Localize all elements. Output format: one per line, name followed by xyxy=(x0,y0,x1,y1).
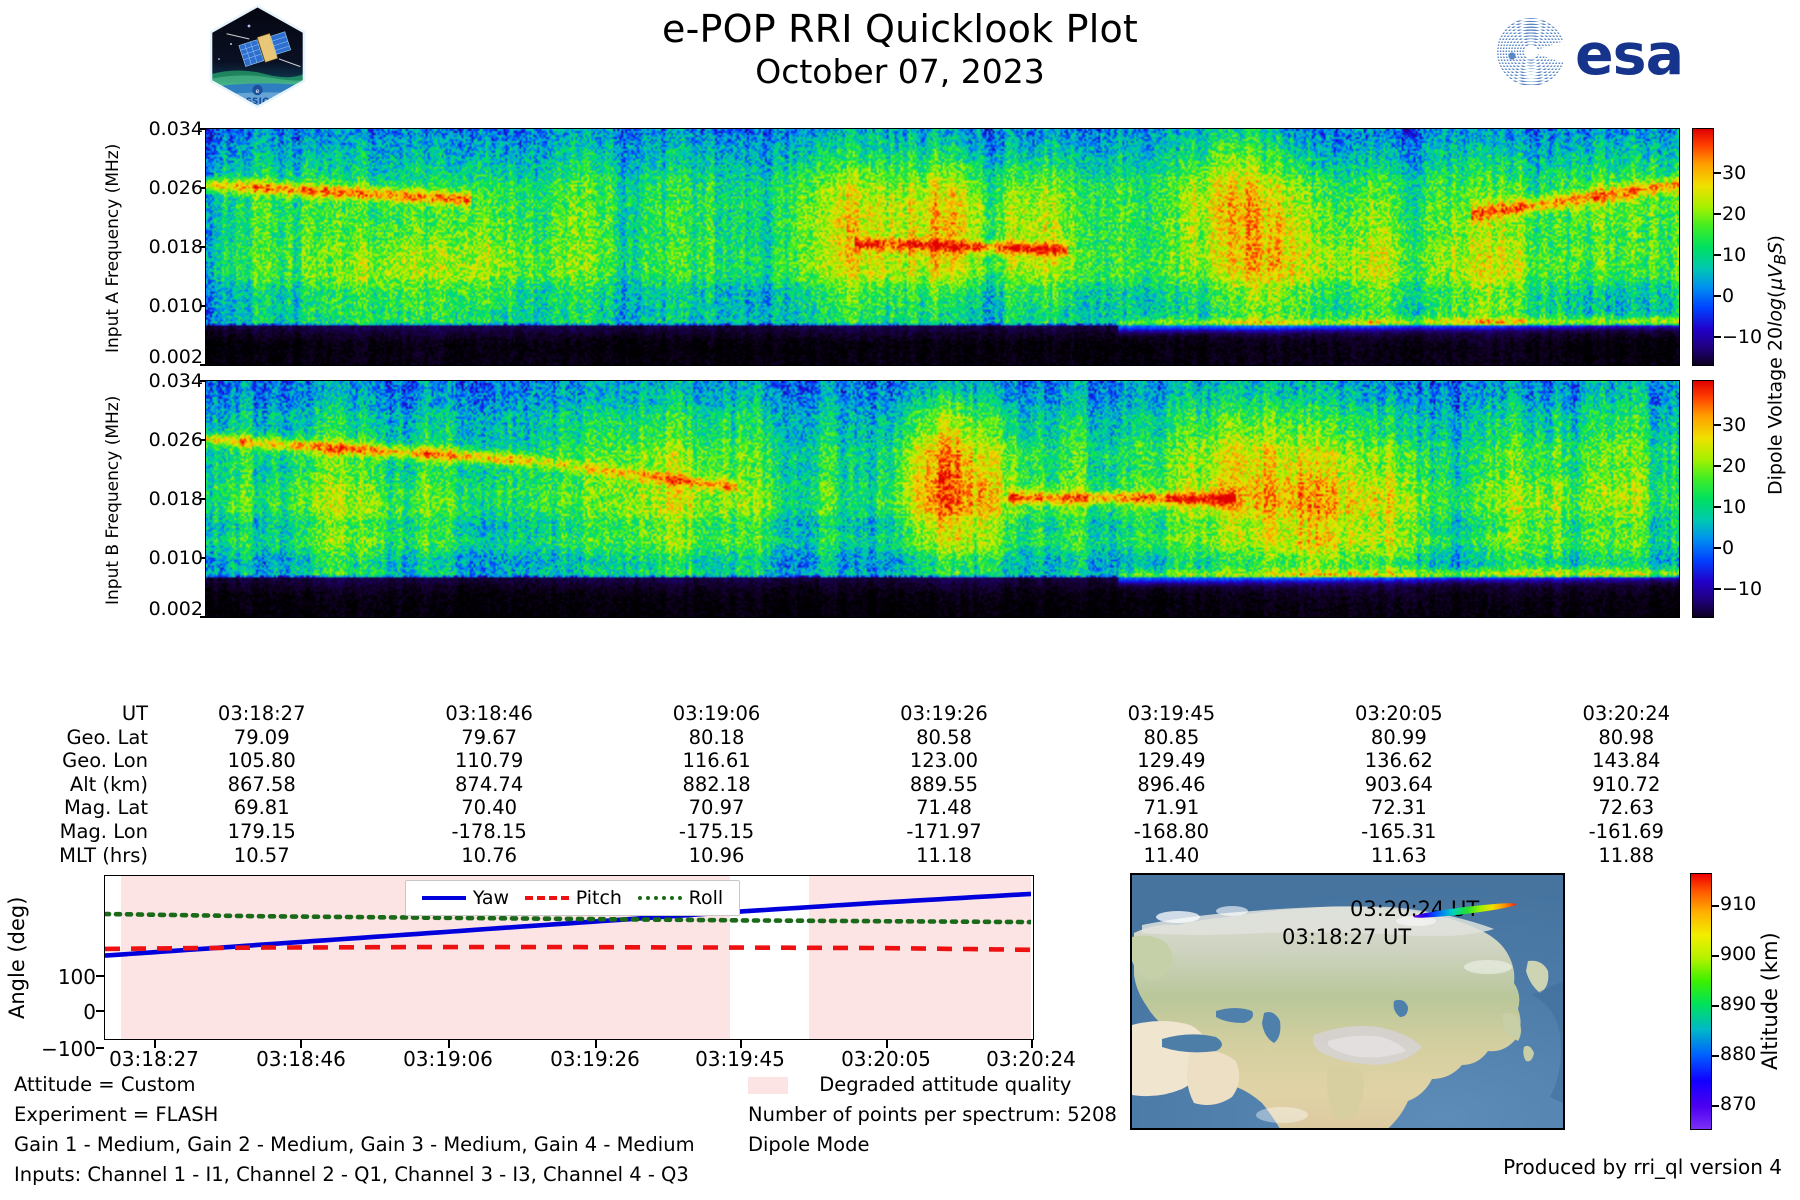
legend-label-pitch: Pitch xyxy=(576,887,622,909)
altitude-colorbar-title: Altitude (km) xyxy=(1752,870,1788,1132)
ephem-geolat-5: 80.99 xyxy=(1285,726,1512,750)
esa-wordmark: esa xyxy=(1575,22,1683,88)
ephem-alt-5: 903.64 xyxy=(1285,773,1512,797)
spectrogram-b-image xyxy=(205,380,1680,618)
colorbar-title-text: Dipole Voltage 20log(μVBS) xyxy=(1765,235,1790,495)
ephem-geolat-0: 79.09 xyxy=(148,726,375,750)
ephem-mlt-3: 11.18 xyxy=(830,844,1057,868)
ephem-row-label-geo-lat: Geo. Lat xyxy=(0,726,148,750)
ephem-geolon-3: 123.00 xyxy=(830,749,1057,773)
attitude-xtick-6: 03:20:24 xyxy=(971,1047,1091,1071)
ephem-mlt-4: 11.40 xyxy=(1058,844,1285,868)
spectrogram-a-ylabel: Input A Frequency (MHz) xyxy=(100,130,126,366)
spectrogram-b-ylabel: Input B Frequency (MHz) xyxy=(100,382,126,618)
attitude-xtick-2: 03:19:06 xyxy=(388,1047,508,1071)
degraded-attitude-label: Degraded attitude quality xyxy=(819,1073,1071,1096)
ephem-row-label-mag-lat: Mag. Lat xyxy=(0,796,148,820)
legend-label-yaw: Yaw xyxy=(473,887,509,909)
ephem-alt-3: 889.55 xyxy=(830,773,1057,797)
colorbar-b-tick-30: 30 xyxy=(1722,414,1746,436)
table-row-ut: UT 03:18:27 03:18:46 03:19:06 03:19:26 0… xyxy=(0,702,1740,726)
legend-item-roll: Roll xyxy=(638,887,724,909)
colorbar-b-tick-0: 0 xyxy=(1722,537,1734,559)
attitude-xtick-0: 03:18:27 xyxy=(94,1047,214,1071)
attitude-ylabel: Angle (deg) xyxy=(2,868,32,1048)
footer-points-per-spectrum: Number of points per spectrum: 5208 xyxy=(748,1100,1117,1130)
ephem-mlt-5: 11.63 xyxy=(1285,844,1512,868)
ephem-ut-0: 03:18:27 xyxy=(148,702,375,726)
ephemeris-table: UT 03:18:27 03:18:46 03:19:06 03:19:26 0… xyxy=(0,702,1740,867)
ephem-maglat-2: 70.97 xyxy=(603,796,830,820)
colorbar-a-tick-0: 0 xyxy=(1722,285,1734,307)
footer-middle: Degraded attitude quality Number of poin… xyxy=(748,1070,1117,1160)
ephem-ut-5: 03:20:05 xyxy=(1285,702,1512,726)
map-start-time-label: 03:18:27 UT xyxy=(1282,925,1411,949)
ephem-geolat-1: 79.67 xyxy=(375,726,602,750)
ephem-maglat-1: 70.40 xyxy=(375,796,602,820)
ephem-ut-3: 03:19:26 xyxy=(830,702,1057,726)
spec-b-ytick-0: 0.034 xyxy=(133,370,203,392)
ephem-ut-6: 03:20:24 xyxy=(1513,702,1740,726)
table-row-geo-lon: Geo. Lon 105.80 110.79 116.61 123.00 129… xyxy=(0,749,1740,773)
altitude-tick-880: 880 xyxy=(1720,1043,1756,1065)
ephem-alt-6: 910.72 xyxy=(1513,773,1740,797)
degraded-legend-row: Degraded attitude quality xyxy=(748,1070,1117,1100)
legend-item-yaw: Yaw xyxy=(422,887,509,909)
attitude-xtick-4: 03:19:45 xyxy=(680,1047,800,1071)
ephem-geolon-1: 110.79 xyxy=(375,749,602,773)
ephem-geolon-4: 129.49 xyxy=(1058,749,1285,773)
colorbar-a-tick-30: 30 xyxy=(1722,162,1746,184)
ephem-maglon-1: -178.15 xyxy=(375,820,602,844)
ephem-alt-2: 882.18 xyxy=(603,773,830,797)
ephem-mlt-6: 11.88 xyxy=(1513,844,1740,868)
ephem-maglon-0: 179.15 xyxy=(148,820,375,844)
spec-a-ytick-2: 0.018 xyxy=(133,236,203,258)
colorbar-b-tick-10: 10 xyxy=(1722,496,1746,518)
ephem-row-label-mag-lon: Mag. Lon xyxy=(0,820,148,844)
globe-mask xyxy=(1130,873,1565,1130)
esa-logo: esa xyxy=(1495,16,1725,88)
table-row-mlt: MLT (hrs) 10.57 10.76 10.96 11.18 11.40 … xyxy=(0,844,1740,868)
ephem-mlt-2: 10.96 xyxy=(603,844,830,868)
ephem-row-label-geo-lon: Geo. Lon xyxy=(0,749,148,773)
colorbar-b xyxy=(1692,380,1714,618)
ephem-maglat-5: 72.31 xyxy=(1285,796,1512,820)
colorbar-title: Dipole Voltage 20log(μVBS) xyxy=(1757,130,1797,600)
footer-gains: Gain 1 - Medium, Gain 2 - Medium, Gain 3… xyxy=(14,1130,695,1160)
ephem-alt-1: 874.74 xyxy=(375,773,602,797)
colorbar-a-tick-20: 20 xyxy=(1722,203,1746,225)
ephem-ut-4: 03:19:45 xyxy=(1058,702,1285,726)
spec-b-ytick-1: 0.026 xyxy=(133,429,203,451)
footer-attitude: Attitude = Custom xyxy=(14,1070,695,1100)
ephem-maglat-0: 69.81 xyxy=(148,796,375,820)
ephem-row-label-ut: UT xyxy=(0,702,148,726)
ephem-maglon-6: -161.69 xyxy=(1513,820,1740,844)
legend-line-roll xyxy=(638,896,682,900)
spec-a-ytick-3: 0.010 xyxy=(133,295,203,317)
attitude-ytick-100: 100 xyxy=(40,965,96,989)
map-landmass xyxy=(1132,875,1565,1130)
altitude-colorbar xyxy=(1690,873,1712,1130)
ephem-maglon-4: -168.80 xyxy=(1058,820,1285,844)
colorbar-a-tick-10: 10 xyxy=(1722,244,1746,266)
footer-dipole-mode: Dipole Mode xyxy=(748,1130,1117,1160)
footer-experiment: Experiment = FLASH xyxy=(14,1100,695,1130)
spec-a-ytick-4: 0.002 xyxy=(133,346,203,368)
esa-swirl-icon xyxy=(1495,16,1573,88)
ephem-mlt-0: 10.57 xyxy=(148,844,375,868)
ephem-geolat-3: 80.58 xyxy=(830,726,1057,750)
colorbar-a xyxy=(1692,128,1714,366)
ephem-geolat-6: 80.98 xyxy=(1513,726,1740,750)
table-row-mag-lat: Mag. Lat 69.81 70.40 70.97 71.48 71.91 7… xyxy=(0,796,1740,820)
ephem-mlt-1: 10.76 xyxy=(375,844,602,868)
table-row-geo-lat: Geo. Lat 79.09 79.67 80.18 80.58 80.85 8… xyxy=(0,726,1740,750)
legend-label-roll: Roll xyxy=(689,887,724,909)
ephem-alt-4: 896.46 xyxy=(1058,773,1285,797)
ephem-geolon-6: 143.84 xyxy=(1513,749,1740,773)
footer-inputs: Inputs: Channel 1 - I1, Channel 2 - Q1, … xyxy=(14,1160,695,1190)
produced-by-label: Produced by rri_ql version 4 xyxy=(1503,1155,1782,1179)
colorbar-b-tick-20: 20 xyxy=(1722,455,1746,477)
header: e CASSIOPE e-POP RRI Quicklook Plot Octo… xyxy=(0,0,1800,112)
spectrogram-a-image xyxy=(205,128,1680,366)
attitude-xtick-3: 03:19:26 xyxy=(535,1047,655,1071)
spec-a-ytick-1: 0.026 xyxy=(133,177,203,199)
attitude-xtick-5: 03:20:05 xyxy=(826,1047,946,1071)
ephem-geolon-0: 105.80 xyxy=(148,749,375,773)
degraded-attitude-swatch xyxy=(748,1077,788,1094)
attitude-ytick-0: 0 xyxy=(40,1000,96,1024)
ephem-maglat-3: 71.48 xyxy=(830,796,1057,820)
table-row-mag-lon: Mag. Lon 179.15 -178.15 -175.15 -171.97 … xyxy=(0,820,1740,844)
ephem-ut-1: 03:18:46 xyxy=(375,702,602,726)
spec-b-ytick-2: 0.018 xyxy=(133,488,203,510)
altitude-tick-870: 870 xyxy=(1720,1093,1756,1115)
ephem-row-label-mlt: MLT (hrs) xyxy=(0,844,148,868)
spec-a-ytick-0: 0.034 xyxy=(133,118,203,140)
ephem-maglat-6: 72.63 xyxy=(1513,796,1740,820)
table-row-alt: Alt (km) 867.58 874.74 882.18 889.55 896… xyxy=(0,773,1740,797)
ephem-maglon-2: -175.15 xyxy=(603,820,830,844)
spec-b-ytick-4: 0.002 xyxy=(133,598,203,620)
ephem-ut-2: 03:19:06 xyxy=(603,702,830,726)
ground-track-map: 03:20:24 UT 03:18:27 UT xyxy=(1130,873,1565,1130)
legend-line-pitch xyxy=(525,896,569,900)
spec-b-ytick-3: 0.010 xyxy=(133,547,203,569)
footer-left: Attitude = Custom Experiment = FLASH Gai… xyxy=(14,1070,695,1190)
attitude-xtick-1: 03:18:46 xyxy=(241,1047,361,1071)
ephem-geolon-2: 116.61 xyxy=(603,749,830,773)
ephem-alt-0: 867.58 xyxy=(148,773,375,797)
ephem-maglon-3: -171.97 xyxy=(830,820,1057,844)
altitude-tick-890: 890 xyxy=(1720,993,1756,1015)
attitude-ytick-m100: −100 xyxy=(32,1037,96,1061)
ephem-geolon-5: 136.62 xyxy=(1285,749,1512,773)
attitude-legend: Yaw Pitch Roll xyxy=(405,880,740,916)
altitude-tick-910: 910 xyxy=(1720,893,1756,915)
ephem-geolat-2: 80.18 xyxy=(603,726,830,750)
ephem-maglat-4: 71.91 xyxy=(1058,796,1285,820)
legend-line-yaw xyxy=(422,896,466,900)
ephem-maglon-5: -165.31 xyxy=(1285,820,1512,844)
altitude-tick-900: 900 xyxy=(1720,943,1756,965)
ephem-geolat-4: 80.85 xyxy=(1058,726,1285,750)
legend-item-pitch: Pitch xyxy=(525,887,622,909)
ephem-row-label-alt: Alt (km) xyxy=(0,773,148,797)
